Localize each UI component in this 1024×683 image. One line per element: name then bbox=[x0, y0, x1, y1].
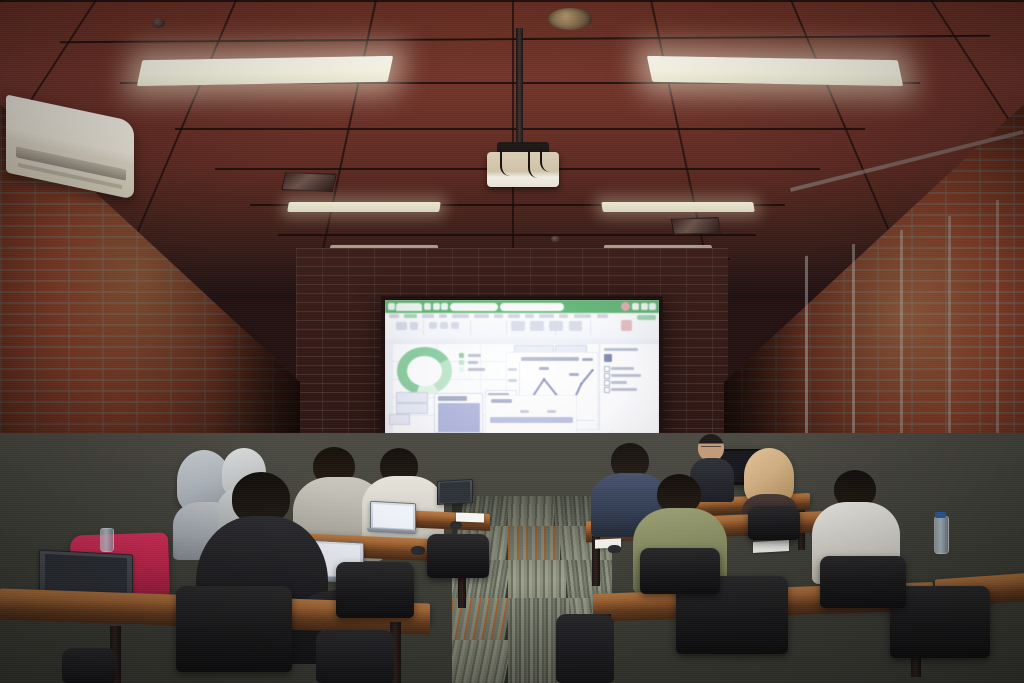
pivot-field-pane[interactable] bbox=[599, 344, 658, 429]
y-tick-label bbox=[508, 379, 517, 382]
light-panel-mid-right bbox=[601, 202, 755, 212]
legend-label bbox=[468, 361, 478, 364]
bar-chart-title bbox=[491, 399, 513, 403]
bottle-cap bbox=[935, 512, 946, 518]
legend-swatch bbox=[459, 367, 464, 372]
mouse-left bbox=[411, 546, 425, 555]
left-cell-block bbox=[396, 403, 428, 414]
line-chart-title bbox=[521, 357, 579, 361]
data-label bbox=[582, 358, 593, 361]
left-cell-block bbox=[389, 414, 410, 425]
back-icon[interactable] bbox=[433, 303, 440, 310]
backpack-right bbox=[556, 614, 614, 683]
field-label bbox=[611, 367, 634, 370]
projector-cable-3 bbox=[540, 148, 552, 172]
projector-cable-1 bbox=[500, 150, 512, 176]
field-pane-icon bbox=[604, 354, 612, 362]
light-panel-front-left bbox=[137, 56, 394, 86]
backpack-floor-left bbox=[62, 648, 116, 683]
field-pane-header bbox=[604, 348, 637, 351]
share-button[interactable] bbox=[637, 315, 656, 320]
browser-tab-active[interactable] bbox=[396, 303, 422, 311]
water-bottle-right bbox=[934, 516, 949, 554]
data-label bbox=[539, 367, 549, 370]
search-input[interactable] bbox=[500, 303, 564, 311]
legend-label bbox=[468, 368, 485, 371]
smoke-detector-rear bbox=[551, 236, 560, 242]
new-tab-icon[interactable] bbox=[424, 303, 431, 310]
left-cell-block bbox=[396, 392, 428, 403]
projector-mount-pole bbox=[516, 28, 523, 146]
air-vent-right bbox=[671, 217, 722, 235]
classroom-scene bbox=[0, 0, 1024, 683]
maximize-icon[interactable] bbox=[641, 303, 648, 310]
browser-menu-icon[interactable] bbox=[388, 303, 395, 310]
field-checkbox[interactable] bbox=[604, 380, 610, 386]
paper-sheet-left bbox=[456, 513, 484, 523]
close-icon[interactable] bbox=[649, 303, 656, 310]
y-tick-label bbox=[508, 368, 517, 371]
light-panel-front-right bbox=[647, 56, 904, 86]
bar-axis-label bbox=[520, 410, 529, 413]
field-checkbox[interactable] bbox=[604, 373, 610, 379]
mouse-right bbox=[608, 545, 621, 553]
field-label bbox=[611, 374, 641, 377]
legend-swatch bbox=[459, 360, 464, 365]
bar-axis-label bbox=[547, 410, 556, 413]
smoke-detector bbox=[152, 18, 165, 28]
light-panel-mid-left bbox=[287, 202, 441, 212]
avatar[interactable] bbox=[621, 302, 630, 311]
bar bbox=[490, 417, 573, 423]
reload-icon[interactable] bbox=[441, 303, 448, 310]
data-label bbox=[569, 373, 579, 376]
ribbon-tab-strip[interactable] bbox=[389, 314, 608, 318]
slicer-item[interactable] bbox=[438, 424, 480, 432]
slicer-nama-barang[interactable] bbox=[434, 393, 483, 433]
laptop-screen bbox=[440, 482, 471, 503]
slicer-header bbox=[438, 396, 467, 401]
mouse-left-2 bbox=[450, 521, 462, 529]
address-bar[interactable] bbox=[450, 303, 498, 311]
minimize-icon[interactable] bbox=[632, 303, 639, 310]
field-checkbox[interactable] bbox=[604, 387, 610, 393]
eyeglasses bbox=[701, 446, 721, 452]
record-button[interactable] bbox=[621, 320, 632, 330]
paper-sheet-right bbox=[753, 540, 789, 553]
legend-swatch bbox=[459, 353, 464, 358]
field-checkbox[interactable] bbox=[604, 366, 610, 372]
legend-label bbox=[468, 354, 481, 357]
excel-ribbon[interactable] bbox=[385, 313, 659, 339]
ceiling-speaker bbox=[548, 8, 592, 30]
browser-title-bar bbox=[385, 300, 659, 313]
backpack-left bbox=[316, 630, 394, 683]
water-bottle-left bbox=[100, 528, 114, 552]
laptop-screen bbox=[373, 504, 413, 530]
air-vent-left bbox=[281, 172, 336, 192]
field-label bbox=[611, 388, 636, 391]
horizontal-bar-chart[interactable] bbox=[485, 395, 577, 435]
field-label bbox=[611, 381, 627, 384]
